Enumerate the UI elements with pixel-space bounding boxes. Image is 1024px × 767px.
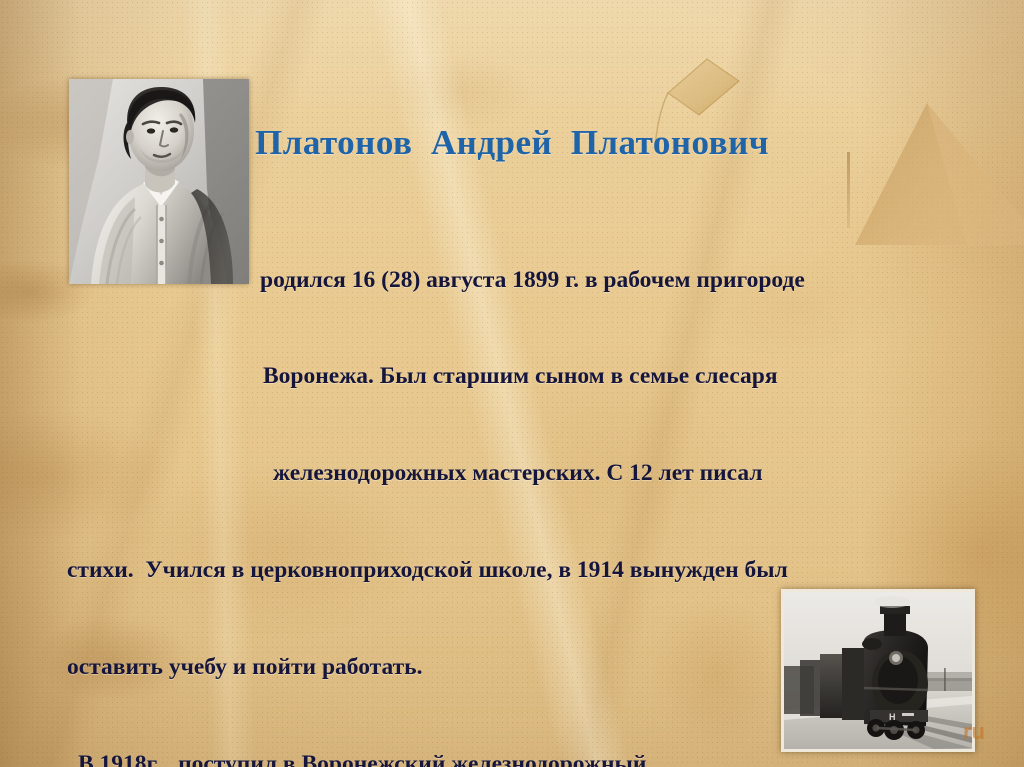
presentation-slide: Н Платонов Андрей Платонович родился 16 … [0, 0, 1024, 767]
text-line: железнодорожных мастерских. С 12 лет пис… [67, 457, 967, 489]
biography-text: родился 16 (28) августа 1899 г. в рабоче… [67, 199, 967, 767]
text-line: родился 16 (28) августа 1899 г. в рабоче… [67, 264, 967, 296]
kite-icon [655, 55, 765, 185]
text-line: стихи. Учился в церковноприходской школе… [67, 554, 967, 586]
text-line: В 1918г. поступил в Воронежский железнод… [67, 748, 967, 767]
text-line: Воронежа. Был старшим сыном в семье слес… [67, 360, 967, 392]
page-title: Платонов Андрей Платонович [0, 123, 1024, 163]
site-watermark: ru [963, 719, 985, 745]
text-line: оставить учебу и пойти работать. [67, 651, 967, 683]
